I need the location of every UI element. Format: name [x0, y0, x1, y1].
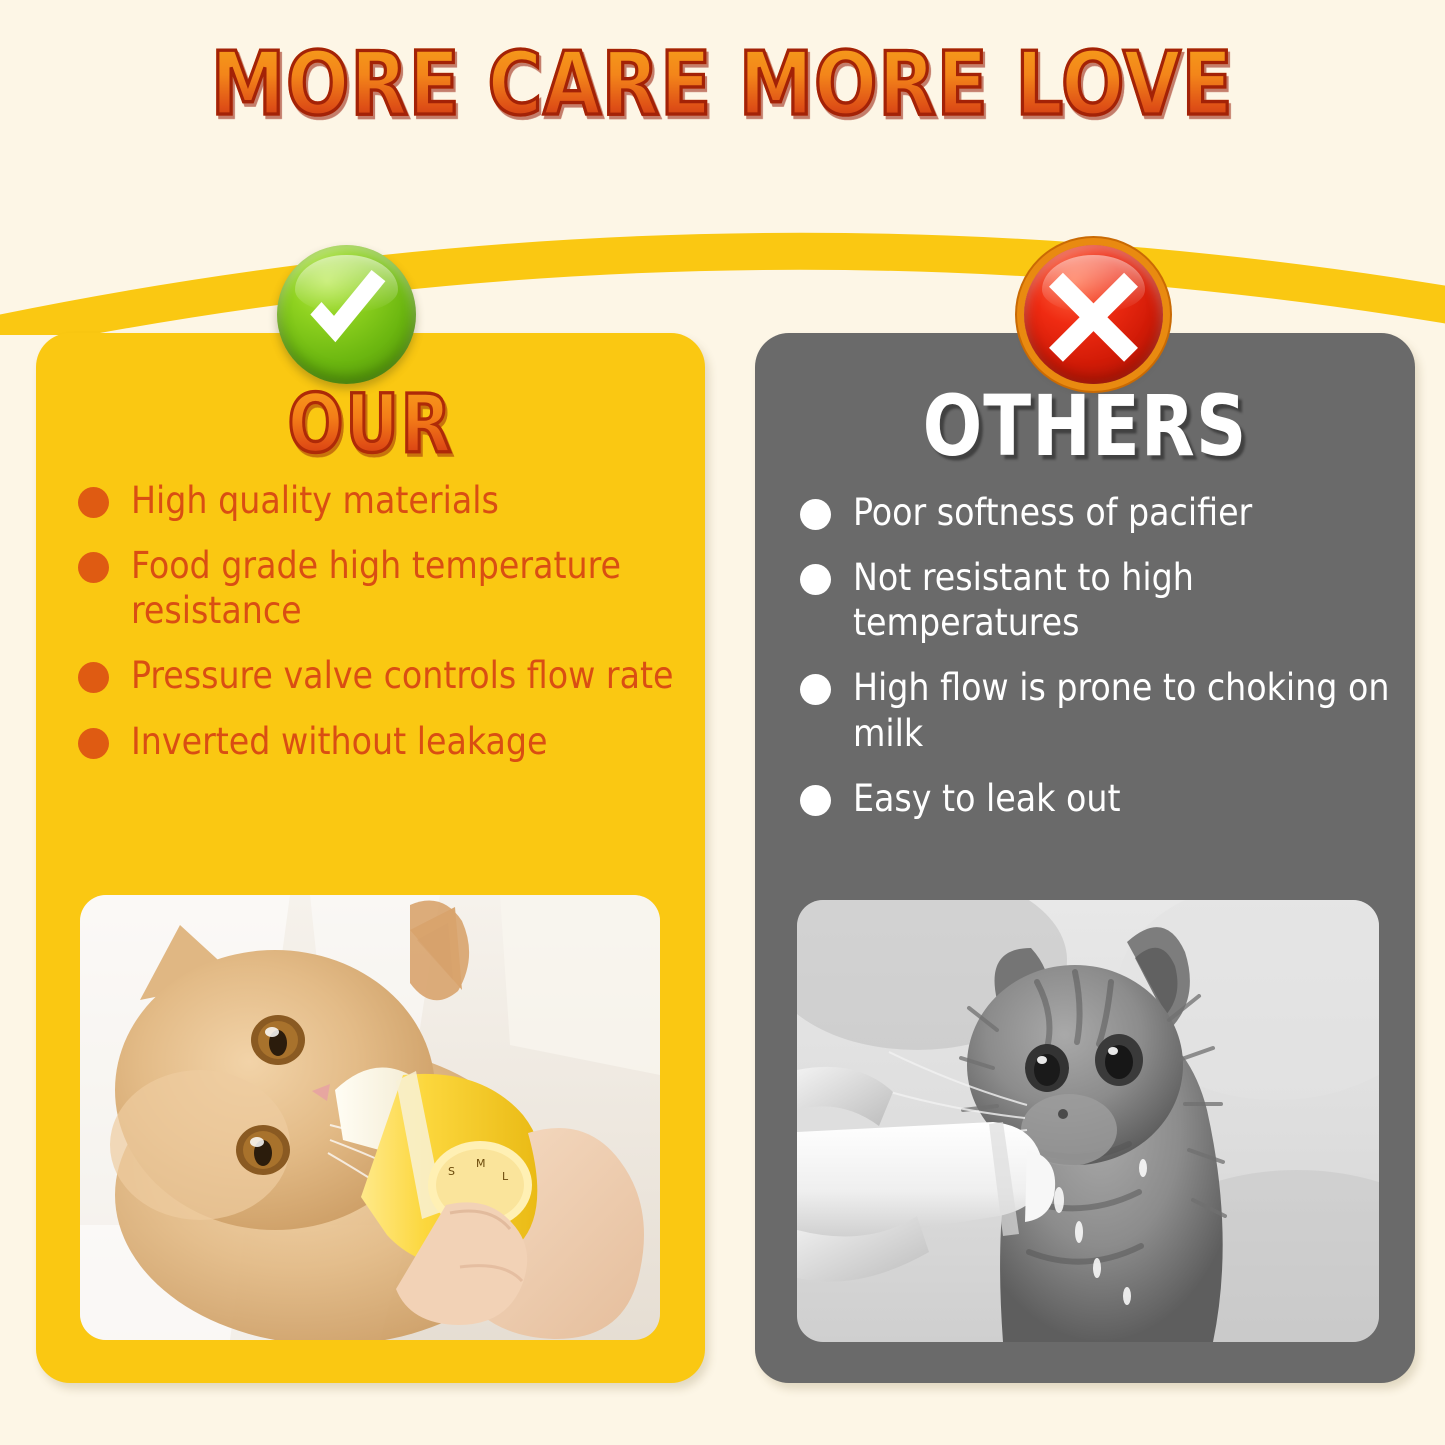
list-item-label: High flow is prone to choking on milk [853, 665, 1400, 755]
list-item: High quality materials [78, 478, 678, 523]
list-item-label: Inverted without leakage [131, 719, 548, 764]
our-product-photo: SML [80, 895, 660, 1340]
others-product-photo [797, 900, 1379, 1342]
our-benefits-list: High quality materials Food grade high t… [78, 478, 678, 784]
others-drawbacks-list: Poor softness of pacifier Not resistant … [800, 490, 1400, 841]
svg-text:L: L [502, 1170, 509, 1183]
bullet-dot-icon [800, 499, 831, 530]
list-item-label: Not resistant to high temperatures [853, 555, 1400, 645]
list-item-label: Food grade high temperature resistance [131, 543, 678, 633]
our-heading: OUR [36, 378, 705, 472]
decorative-arc [0, 175, 1445, 335]
list-item: Food grade high temperature resistance [78, 543, 678, 633]
bullet-dot-icon [78, 552, 109, 583]
list-item: Poor softness of pacifier [800, 490, 1400, 535]
page-title: MORE CARE MORE LOVE [211, 35, 1234, 136]
list-item-label: Poor softness of pacifier [853, 490, 1252, 535]
others-heading: OTHERS [755, 378, 1415, 475]
bullet-dot-icon [800, 674, 831, 705]
list-item: Pressure valve controls flow rate [78, 653, 678, 698]
list-item: Not resistant to high temperatures [800, 555, 1400, 645]
list-item-label: High quality materials [131, 478, 499, 523]
x-circle-icon [1024, 245, 1163, 384]
check-circle-icon [277, 245, 416, 384]
list-item-label: Easy to leak out [853, 776, 1121, 821]
svg-text:S: S [448, 1165, 455, 1178]
list-item: Inverted without leakage [78, 719, 678, 764]
title-bar: MORE CARE MORE LOVE [0, 0, 1445, 170]
bullet-dot-icon [800, 564, 831, 595]
svg-text:M: M [476, 1157, 486, 1170]
bullet-dot-icon [800, 785, 831, 816]
list-item: Easy to leak out [800, 776, 1400, 821]
list-item-label: Pressure valve controls flow rate [131, 653, 674, 698]
bullet-dot-icon [78, 662, 109, 693]
list-item: High flow is prone to choking on milk [800, 665, 1400, 755]
bullet-dot-icon [78, 487, 109, 518]
bullet-dot-icon [78, 728, 109, 759]
